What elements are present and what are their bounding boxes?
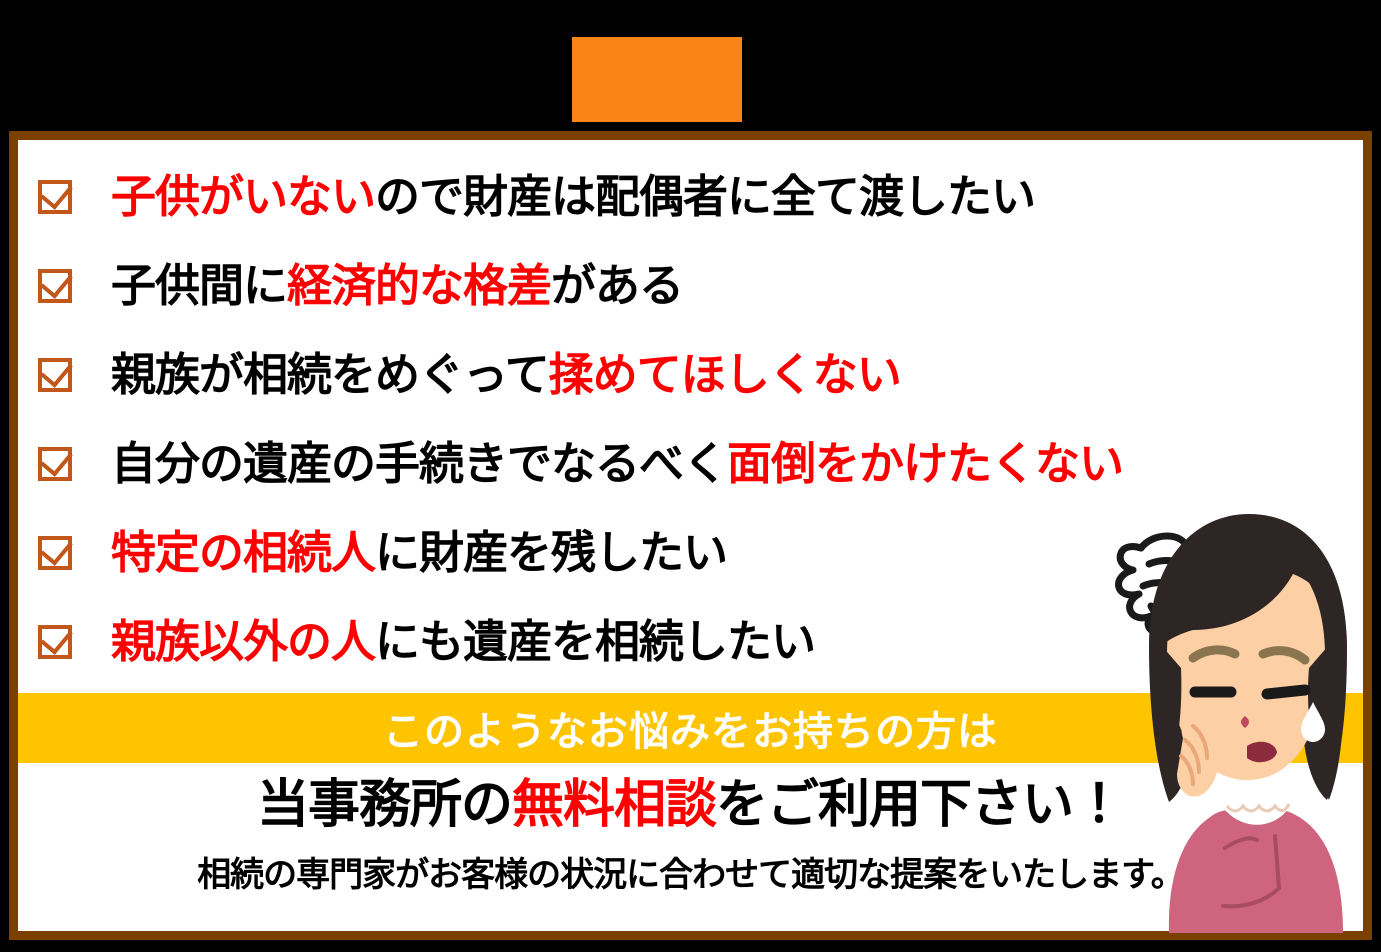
checklist-item-1-segment-0: 子供がいない xyxy=(111,171,375,222)
checklist-item-label: 子供間に経済的な格差がある xyxy=(111,263,683,308)
checklist-item-2-segment-0: 子供間に xyxy=(111,260,287,311)
checklist-item-5[interactable]: 特定の相続人に財産を残したい xyxy=(18,508,1363,597)
checklist-item-4-segment-1: 面倒をかけたくない xyxy=(727,438,1123,489)
checkmark-icon xyxy=(40,265,73,299)
checked-box-icon[interactable] xyxy=(38,180,72,214)
main-card: 子供がいないので財産は配偶者に全て渡したい子供間に経済的な格差がある親族が相続を… xyxy=(9,131,1372,940)
cta-headline: 当事務所の無料相談をご利用下さい！ xyxy=(18,776,1363,836)
highlight-banner: このようなお悩みをお持ちの方は xyxy=(18,693,1363,763)
checklist-item-6[interactable]: 親族以外の人にも遺産を相続したい xyxy=(18,597,1363,686)
checklist-item-2-segment-2: がある xyxy=(551,260,683,311)
checklist-item-4[interactable]: 自分の遺産の手続きでなるべく面倒をかけたくない xyxy=(18,419,1363,508)
cta-segment-2: をご利用下さい！ xyxy=(716,776,1124,834)
checkmark-icon xyxy=(40,354,73,388)
checklist-item-5-segment-1: に財産を残したい xyxy=(375,527,727,578)
highlight-banner-text: このようなお悩みをお持ちの方は xyxy=(383,699,998,757)
cta-subtext: 相続の専門家がお客様の状況に合わせて適切な提案をいたします。 xyxy=(18,856,1363,895)
poster-root: 子供がいないので財産は配偶者に全て渡したい子供間に経済的な格差がある親族が相続を… xyxy=(0,0,1381,952)
checkmark-icon xyxy=(40,176,73,210)
checklist: 子供がいないので財産は配偶者に全て渡したい子供間に経済的な格差がある親族が相続を… xyxy=(18,140,1363,686)
checklist-item-3-segment-0: 親族が相続をめぐって xyxy=(111,349,549,400)
checked-box-icon[interactable] xyxy=(38,536,72,570)
checklist-item-1[interactable]: 子供がいないので財産は配偶者に全て渡したい xyxy=(18,152,1363,241)
checklist-item-3[interactable]: 親族が相続をめぐって揉めてほしくない xyxy=(18,330,1363,419)
checklist-item-label: 親族が相続をめぐって揉めてほしくない xyxy=(111,352,901,397)
checklist-item-label: 特定の相続人に財産を残したい xyxy=(111,530,727,575)
checklist-item-label: 子供がいないので財産は配偶者に全て渡したい xyxy=(111,174,1035,219)
checklist-item-3-segment-1: 揉めてほしくない xyxy=(549,349,901,400)
checklist-item-label: 自分の遺産の手続きでなるべく面倒をかけたくない xyxy=(111,441,1123,486)
checklist-item-6-segment-1: にも遺産を相続したい xyxy=(375,616,815,667)
checklist-item-1-segment-1: ので財産は配偶者に全て渡したい xyxy=(375,171,1035,222)
cta-block: 当事務所の無料相談をご利用下さい！ 相続の専門家がお客様の状況に合わせて適切な提… xyxy=(18,776,1363,895)
top-tab-banner xyxy=(572,37,742,122)
cta-segment-0: 当事務所の xyxy=(257,776,512,834)
checklist-item-4-segment-0: 自分の遺産の手続きでなるべく xyxy=(111,438,727,489)
checkmark-icon xyxy=(40,532,73,566)
checked-box-icon[interactable] xyxy=(38,269,72,303)
checklist-item-5-segment-0: 特定の相続人 xyxy=(111,527,375,578)
checklist-item-6-segment-0: 親族以外の人 xyxy=(111,616,375,667)
cta-segment-1: 無料相談 xyxy=(512,776,716,834)
checked-box-icon[interactable] xyxy=(38,447,72,481)
checklist-item-2-segment-1: 経済的な格差 xyxy=(287,260,551,311)
checklist-item-2[interactable]: 子供間に経済的な格差がある xyxy=(18,241,1363,330)
checkmark-icon xyxy=(40,621,73,655)
checked-box-icon[interactable] xyxy=(38,625,72,659)
checklist-item-label: 親族以外の人にも遺産を相続したい xyxy=(111,619,815,664)
checkmark-icon xyxy=(40,443,73,477)
checked-box-icon[interactable] xyxy=(38,358,72,392)
